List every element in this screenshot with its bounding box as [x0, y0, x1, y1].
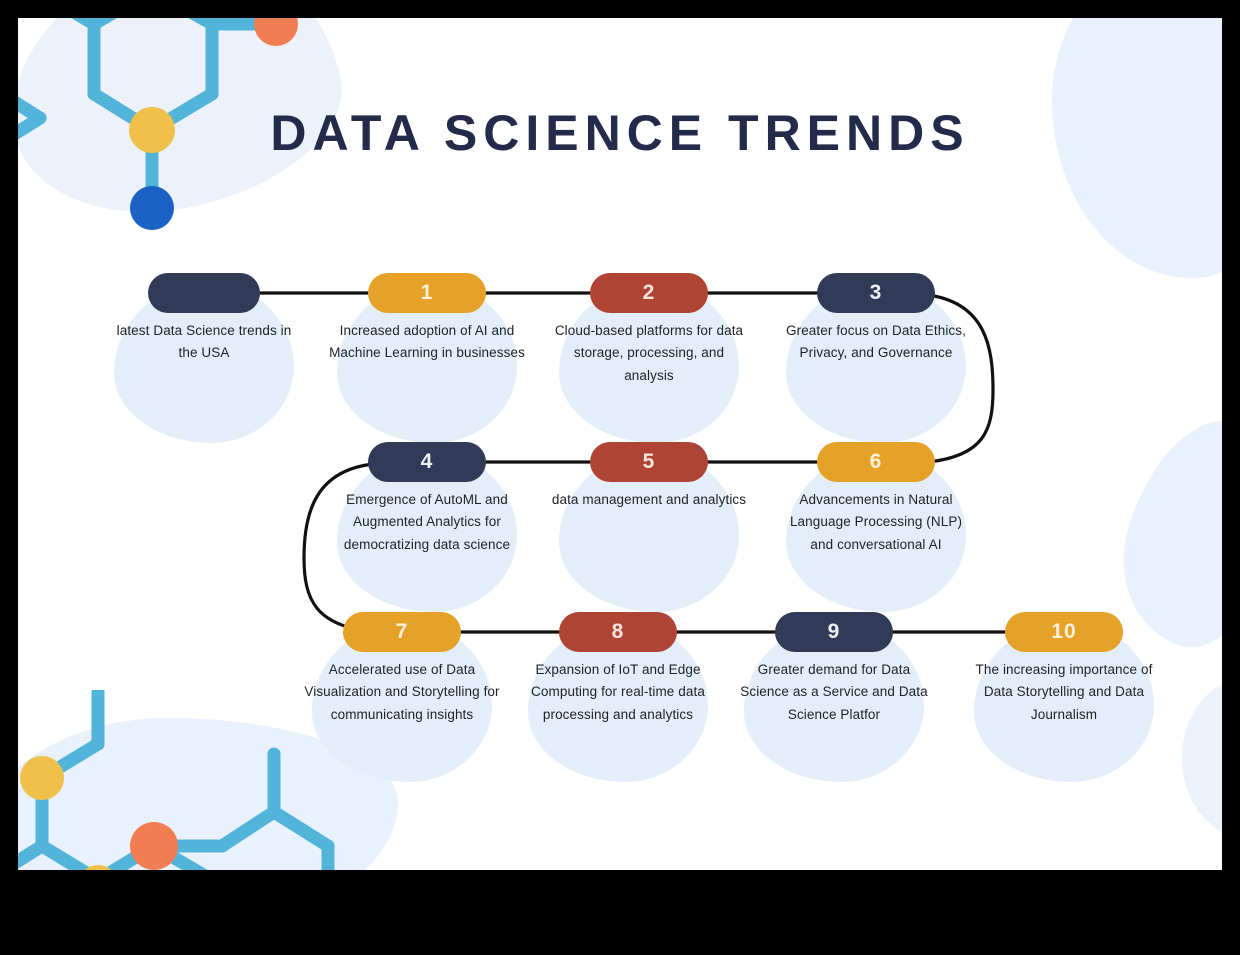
node-label-9: Greater demand for Data Science as a Ser… — [736, 659, 932, 726]
node-pill-3[interactable]: 3 — [817, 273, 935, 313]
node-pill-start[interactable] — [148, 273, 260, 313]
node-label-1: Increased adoption of AI and Machine Lea… — [329, 320, 525, 365]
node-pill-9[interactable]: 9 — [775, 612, 893, 652]
node-pill-7[interactable]: 7 — [343, 612, 461, 652]
flow-node-5[interactable]: 5 data management and analytics — [551, 442, 747, 511]
node-pill-5[interactable]: 5 — [590, 442, 708, 482]
node-label-3: Greater focus on Data Ethics, Privacy, a… — [778, 320, 974, 365]
flow-node-9[interactable]: 9 Greater demand for Data Science as a S… — [736, 612, 932, 726]
node-pill-8[interactable]: 8 — [559, 612, 677, 652]
flow-node-1[interactable]: 1 Increased adoption of AI and Machine L… — [329, 273, 525, 365]
node-pill-1[interactable]: 1 — [368, 273, 486, 313]
flow-node-3[interactable]: 3 Greater focus on Data Ethics, Privacy,… — [778, 273, 974, 365]
node-pill-6[interactable]: 6 — [817, 442, 935, 482]
slide-canvas: DATA SCIENCE TRENDS — [18, 18, 1222, 870]
node-label-7: Accelerated use of Data Visualization an… — [304, 659, 500, 726]
node-label-2: Cloud-based platforms for data storage, … — [551, 320, 747, 387]
flow-node-7[interactable]: 7 Accelerated use of Data Visualization … — [304, 612, 500, 726]
screenshot-frame: DATA SCIENCE TRENDS — [0, 0, 1240, 955]
flow-node-2[interactable]: 2 Cloud-based platforms for data storage… — [551, 273, 747, 387]
flow-node-8[interactable]: 8 Expansion of IoT and Edge Computing fo… — [520, 612, 716, 726]
flow-node-start[interactable]: latest Data Science trends in the USA — [106, 273, 302, 365]
node-label-4: Emergence of AutoML and Augmented Analyt… — [329, 489, 525, 556]
node-pill-10[interactable]: 10 — [1005, 612, 1123, 652]
node-label-8: Expansion of IoT and Edge Computing for … — [520, 659, 716, 726]
flow-node-10[interactable]: 10 The increasing importance of Data Sto… — [966, 612, 1162, 726]
flow-node-6[interactable]: 6 Advancements in Natural Language Proce… — [778, 442, 974, 556]
node-label-5: data management and analytics — [551, 489, 747, 511]
node-pill-4[interactable]: 4 — [368, 442, 486, 482]
node-pill-2[interactable]: 2 — [590, 273, 708, 313]
node-label-10: The increasing importance of Data Storyt… — [966, 659, 1162, 726]
node-label-start: latest Data Science trends in the USA — [106, 320, 302, 365]
flow-node-4[interactable]: 4 Emergence of AutoML and Augmented Anal… — [329, 442, 525, 556]
node-label-6: Advancements in Natural Language Process… — [778, 489, 974, 556]
